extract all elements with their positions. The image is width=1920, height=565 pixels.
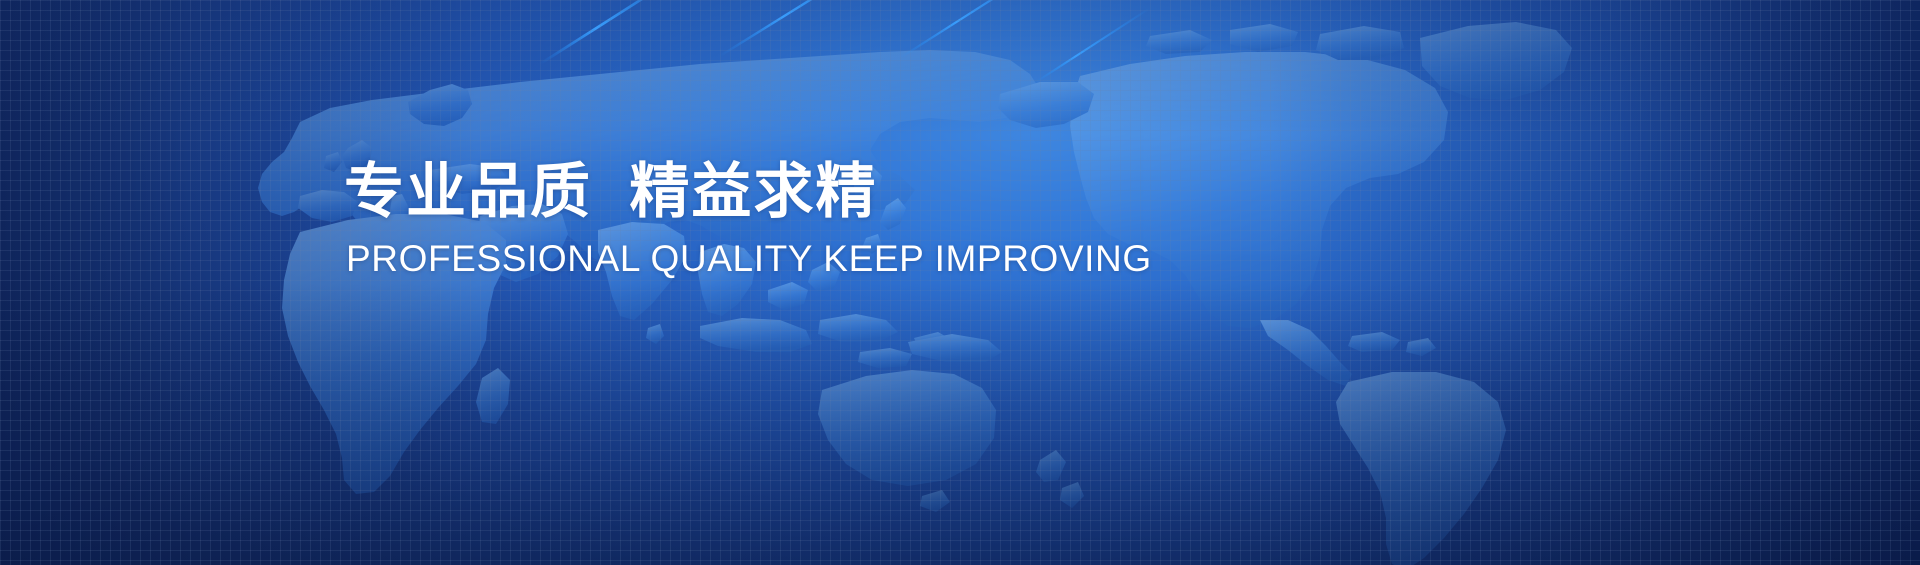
banner-copy: 专业品质 精益求精 PROFESSIONAL QUALITY KEEP IMPR… [344,160,1244,279]
hero-banner: 专业品质 精益求精 PROFESSIONAL QUALITY KEEP IMPR… [0,0,1920,565]
banner-headline-en: PROFESSIONAL QUALITY KEEP IMPROVING [346,239,1244,280]
grid-mesh-overlay [0,0,1920,565]
banner-headline-cn: 专业品质 精益求精 [344,160,1244,225]
